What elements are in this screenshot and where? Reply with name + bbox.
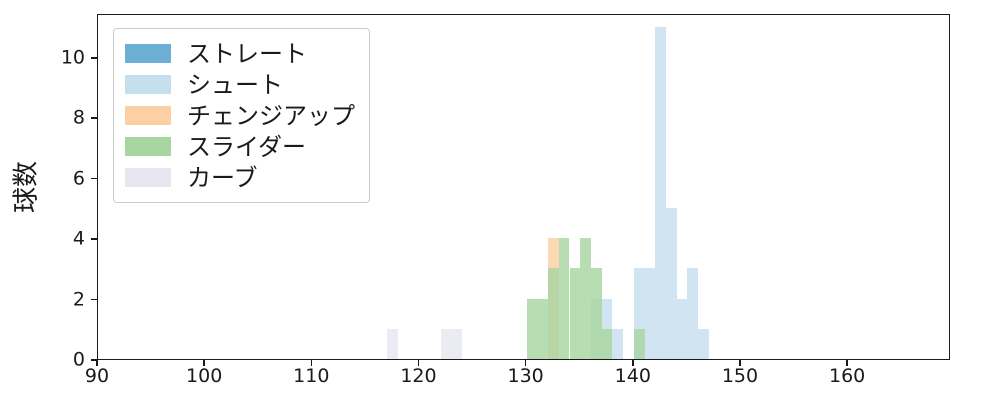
histogram-bar [548,268,559,359]
y-tick-label: 0 [73,351,85,370]
legend-item-label: カーブ [187,166,258,190]
histogram-bar [591,268,602,359]
pitch-speed-histogram-figure: 球数 0246810 90100110120130140150160 ストレート… [0,0,1000,400]
x-tick-label: 100 [186,367,222,386]
histogram-bar [645,268,656,359]
legend-item-label: スライダー [187,135,306,159]
histogram-bar [570,268,581,359]
x-tick-label: 130 [508,367,544,386]
legend-item-1[interactable]: ストレート [125,38,355,69]
x-tick-label: 110 [293,367,329,386]
x-tick-label: 140 [615,367,651,386]
legend-item-3[interactable]: チェンジアップ [125,100,355,131]
y-tick-label: 8 [73,109,85,128]
legend-item-label: シュート [187,73,283,97]
legend-item-5[interactable]: カーブ [125,162,355,193]
y-tick-label: 10 [61,48,85,67]
legend-swatch-icon [125,137,171,156]
x-tick-label: 150 [722,367,758,386]
x-tick-label: 160 [829,367,865,386]
y-axis-title: 球数 [6,161,43,213]
y-tick-label: 4 [73,230,85,249]
legend-item-2[interactable]: シュート [125,69,355,100]
legend-swatch-icon [125,44,171,63]
histogram-bar [698,329,709,359]
histogram-bar [387,329,398,359]
x-tick-label: 120 [400,367,436,386]
y-tick-label: 6 [73,169,85,188]
histogram-bar [527,299,538,359]
histogram-bar [677,299,688,359]
x-tick-label: 90 [85,367,109,386]
histogram-bar [452,329,463,359]
y-tick-label: 2 [73,290,85,309]
histogram-bar [559,238,570,359]
legend-swatch-icon [125,75,171,94]
legend-item-label: ストレート [187,42,307,66]
histogram-bar [602,329,613,359]
legend-item-label: チェンジアップ [187,104,355,128]
legend-swatch-icon [125,168,171,187]
histogram-bar [580,238,591,359]
legend-item-4[interactable]: スライダー [125,131,355,162]
histogram-bar [441,329,452,359]
histogram-bar [537,299,548,359]
histogram-bar [634,329,645,359]
histogram-bar [666,208,677,359]
histogram-bar [655,27,666,359]
histogram-bar [687,268,698,359]
legend-swatch-icon [125,106,171,125]
legend: ストレートシュートチェンジアップスライダーカーブ [113,28,370,203]
histogram-bar [612,329,623,359]
